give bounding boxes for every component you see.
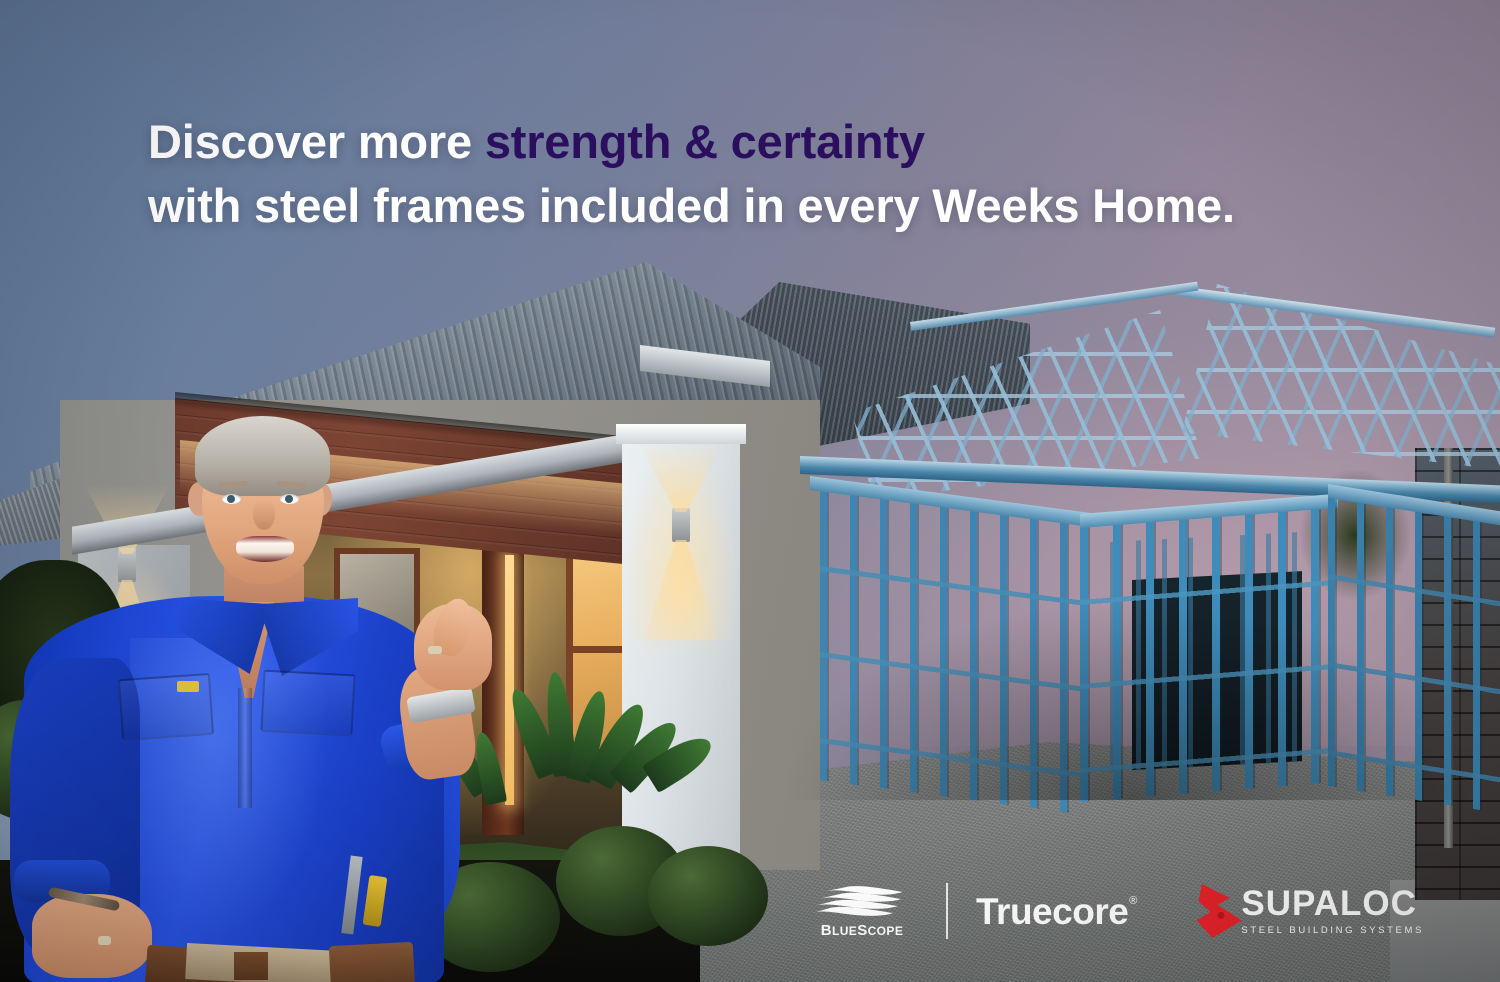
door-sidelight-glass <box>505 555 514 805</box>
supaloc-wordmark: SUPALOC <box>1241 886 1424 921</box>
presenter-shirt-pocket-left <box>118 673 214 741</box>
presenter-shirt-pocket-right <box>260 670 355 737</box>
truecore-registered-icon: ® <box>1129 895 1137 907</box>
bluescope-logo[interactable]: BLUESCOPE <box>806 885 918 938</box>
bluescope-wordmark-cope: COPE <box>868 924 904 938</box>
bluescope-wordmark-lue: LUE <box>832 924 857 938</box>
tool-belt-pouch-right <box>329 942 415 982</box>
headline-line-2: with steel frames included in every Week… <box>148 174 1348 238</box>
bluescope-wordmark-b: B <box>821 922 832 939</box>
headline-line-1-accent: strength & certainty <box>485 115 925 168</box>
frame-ground-shadow <box>780 600 1480 800</box>
stacked-steel-sheets-icon <box>814 885 910 921</box>
advertisement-banner: Discover more strength & certainty with … <box>0 0 1500 982</box>
partner-logo-bar: BLUESCOPE Truecore ® SUPALOC STEEL BUILD… <box>806 876 1424 946</box>
headline-line-1: Discover more strength & certainty <box>148 110 1348 174</box>
truecore-logo[interactable]: Truecore ® <box>976 893 1137 930</box>
presenter-figure <box>10 408 480 982</box>
tool-belt-buckle <box>234 952 268 980</box>
presenter-left-hand <box>32 894 152 978</box>
presenter-left-ring <box>98 936 111 945</box>
supaloc-logo[interactable]: SUPALOC STEEL BUILDING SYSTEMS <box>1195 882 1424 940</box>
headline: Discover more strength & certainty with … <box>148 110 1348 239</box>
presenter-shirt-brand-badge <box>177 681 199 692</box>
presenter-hair <box>195 416 330 496</box>
presenter-smile <box>236 536 294 562</box>
red-lightning-bolt-icon <box>1195 882 1247 940</box>
shrub <box>648 846 768 946</box>
logo-divider <box>946 883 948 939</box>
bluescope-wordmark-s: S <box>857 922 867 939</box>
supaloc-text-block: SUPALOC STEEL BUILDING SYSTEMS <box>1241 886 1424 936</box>
presenter-nose <box>253 500 275 530</box>
presenter-shirt-placket <box>238 688 252 808</box>
truecore-wordmark: Truecore <box>976 893 1128 930</box>
presenter-right-ring <box>428 646 442 654</box>
presenter-pupil-left <box>227 495 235 503</box>
headline-line-1-plain: Discover more <box>148 115 485 168</box>
column-wall-light-icon <box>672 508 690 542</box>
presenter-pupil-right <box>285 495 293 503</box>
bluescope-wordmark: BLUESCOPE <box>821 923 903 938</box>
supaloc-tagline: STEEL BUILDING SYSTEMS <box>1241 925 1424 936</box>
